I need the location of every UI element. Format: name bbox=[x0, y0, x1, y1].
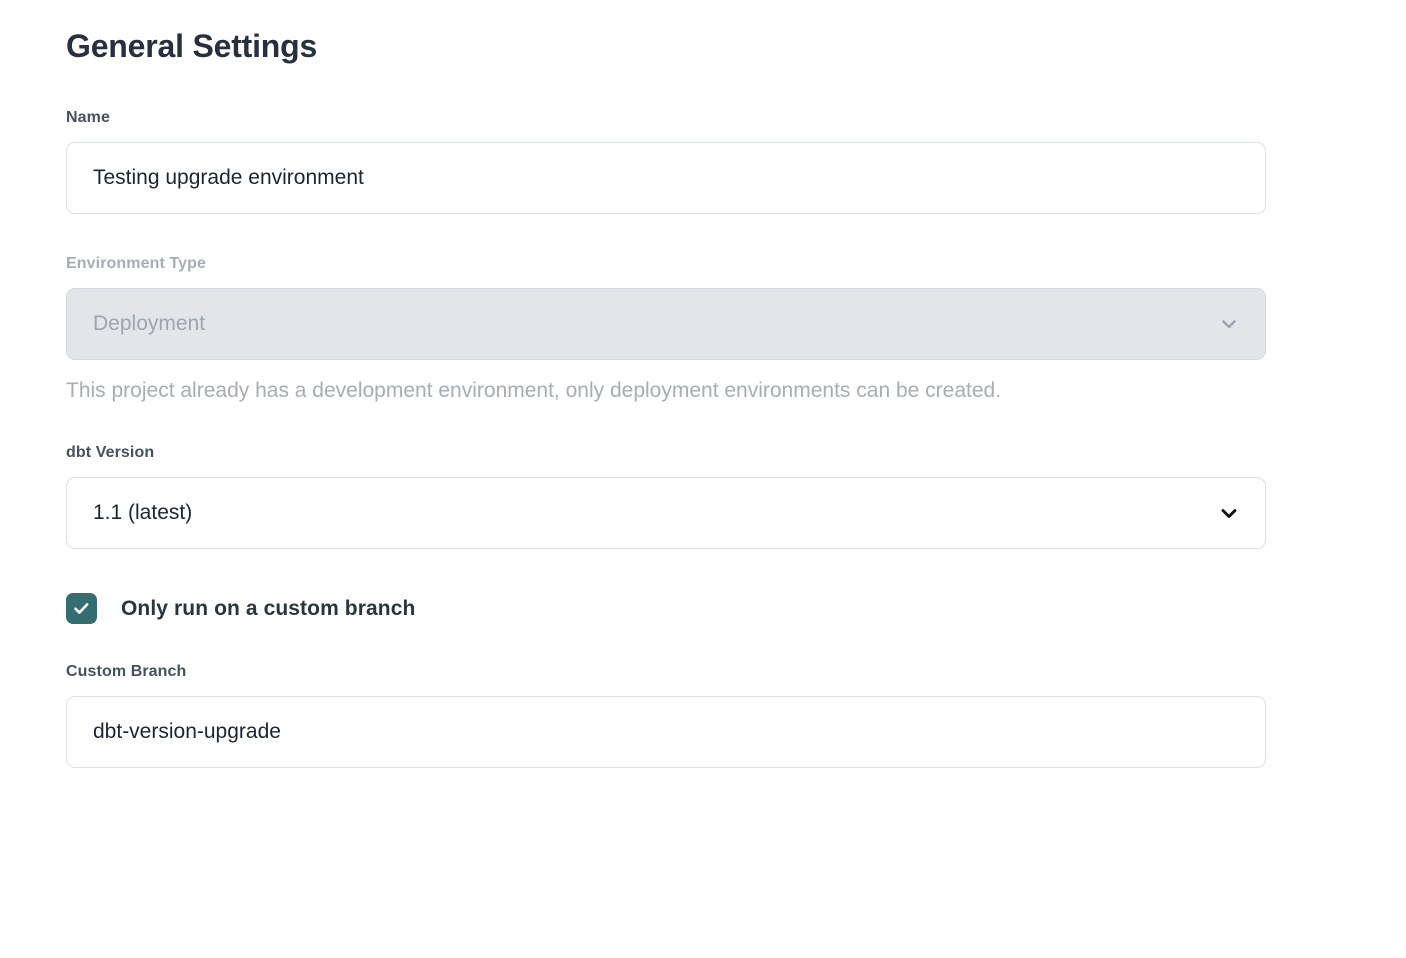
custom-branch-input[interactable] bbox=[66, 696, 1266, 768]
environment-type-select-wrap: Deployment bbox=[66, 288, 1266, 360]
check-icon bbox=[72, 599, 91, 618]
dbt-version-select[interactable]: 1.1 (latest) bbox=[66, 477, 1266, 549]
environment-type-value: Deployment bbox=[93, 312, 205, 336]
custom-branch-checkbox[interactable] bbox=[66, 593, 97, 624]
field-group-dbt-version: dbt Version 1.1 (latest) bbox=[66, 443, 1340, 549]
page-title: General Settings bbox=[66, 0, 1340, 68]
dbt-version-select-wrap: 1.1 (latest) bbox=[66, 477, 1266, 549]
custom-branch-checkbox-label[interactable]: Only run on a custom branch bbox=[121, 597, 415, 621]
name-label: Name bbox=[66, 108, 1340, 128]
custom-branch-toggle-row[interactable]: Only run on a custom branch bbox=[66, 593, 1340, 624]
field-group-environment-type: Environment Type Deployment This project… bbox=[66, 254, 1340, 405]
custom-branch-label: Custom Branch bbox=[66, 662, 1340, 682]
dbt-version-value: 1.1 (latest) bbox=[93, 501, 192, 525]
environment-type-helper-text: This project already has a development e… bbox=[66, 377, 1340, 405]
field-group-custom-branch: Custom Branch bbox=[66, 662, 1340, 768]
dbt-version-label: dbt Version bbox=[66, 443, 1340, 463]
environment-type-select: Deployment bbox=[66, 288, 1266, 360]
name-input[interactable] bbox=[66, 142, 1266, 214]
general-settings-panel: General Settings Name Environment Type D… bbox=[0, 0, 1406, 958]
field-group-name: Name bbox=[66, 108, 1340, 214]
environment-type-label: Environment Type bbox=[66, 254, 1340, 274]
